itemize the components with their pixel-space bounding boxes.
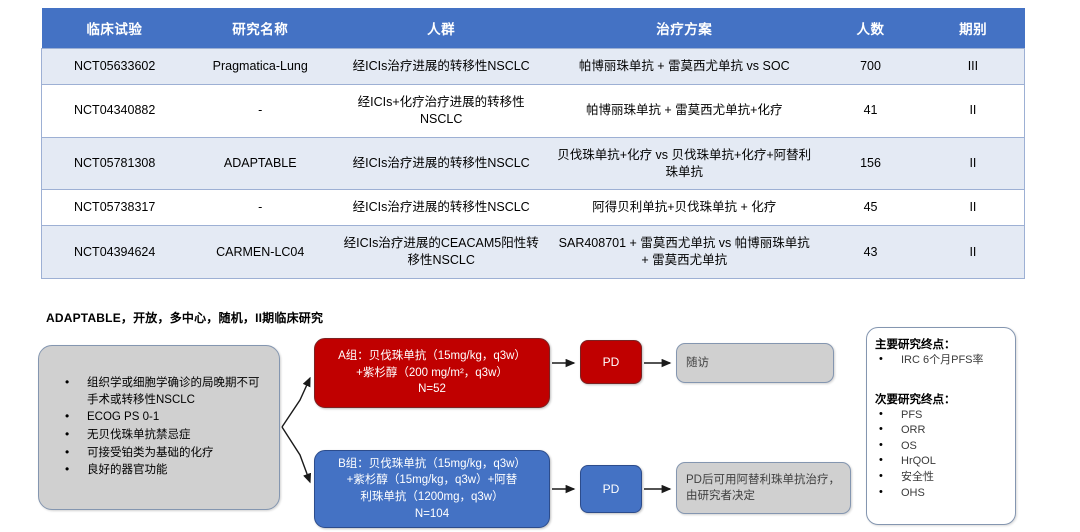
endpoints-spacer [875,369,1009,391]
column-header-trial: 临床试验 [42,8,188,49]
cell-population: 经ICIs治疗进展的转移性NSCLC [333,137,549,190]
list-item: HrQOL [875,454,1009,470]
cell-study-name: - [187,190,333,226]
table-row: NCT04394624 CARMEN-LC04 经ICIs治疗进展的CEACAM… [42,226,1025,279]
table-row: NCT04340882 - 经ICIs+化疗治疗进展的转移性NSCLC 帕博丽珠… [42,84,1025,137]
cell-trial: NCT04340882 [42,84,188,137]
crossover-label: PD后可用阿替利珠单抗治疗，由研究者决定 [677,472,850,504]
column-header-population: 人群 [333,8,549,49]
list-item: ECOG PS 0-1 [65,409,269,426]
list-item: 可接受铂类为基础的化疗 [65,445,269,462]
cell-treatment: 帕博丽珠单抗 + 雷莫西尤单抗 vs SOC [549,49,819,85]
cell-count: 156 [819,137,922,190]
cell-population: 经ICIs治疗进展的转移性NSCLC [333,190,549,226]
cell-study-name: ADAPTABLE [187,137,333,190]
cell-treatment: 贝伐珠单抗+化疗 vs 贝伐珠单抗+化疗+阿替利珠单抗 [549,137,819,190]
column-header-treatment: 治疗方案 [549,8,819,49]
arm-a-sample-size: N=52 [321,381,543,398]
pd-a-label: PD [581,355,641,369]
table-row: NCT05781308 ADAPTABLE 经ICIs治疗进展的转移性NSCLC… [42,137,1025,190]
cell-count: 700 [819,49,922,85]
table-row: NCT05738317 - 经ICIs治疗进展的转移性NSCLC 阿得贝利单抗+… [42,190,1025,226]
arrow-eligibility-to-arm-a [282,378,310,427]
diagram-title: ADAPTABLE，开放，多中心，随机，II期临床研究 [46,309,323,326]
arm-a-line1: A组：贝伐珠单抗（15mg/kg，q3w） [321,348,543,365]
arm-a-box: A组：贝伐珠单抗（15mg/kg，q3w） +紫杉醇（200 mg/m²，q3w… [314,338,550,408]
cell-trial: NCT05738317 [42,190,188,226]
table-body: NCT05633602 Pragmatica-Lung 经ICIs治疗进展的转移… [42,49,1025,279]
cell-phase: II [922,137,1025,190]
cell-count: 41 [819,84,922,137]
cell-phase: II [922,190,1025,226]
study-endpoints-panel: 主要研究终点： IRC 6个月PFS率 次要研究终点： PFS ORR OS H… [866,327,1016,525]
eligibility-criteria-box: 组织学或细胞学确诊的局晚期不可手术或转移性NSCLC ECOG PS 0-1 无… [38,345,280,510]
crossover-treatment-box: PD后可用阿替利珠单抗治疗，由研究者决定 [676,462,851,514]
cell-study-name: - [187,84,333,137]
pd-node-arm-a: PD [580,340,642,384]
cell-phase: III [922,49,1025,85]
list-item: PFS [875,408,1009,424]
cell-study-name: Pragmatica-Lung [187,49,333,85]
arm-b-sample-size: N=104 [321,506,543,523]
list-item: OHS [875,486,1009,502]
followup-label: 随访 [677,355,833,371]
pd-node-arm-b: PD [580,465,642,513]
cell-phase: II [922,84,1025,137]
arrow-eligibility-to-arm-b [282,427,310,482]
arm-b-box: B组：贝伐珠单抗（15mg/kg，q3w） +紫杉醇（15mg/kg，q3w）+… [314,450,550,528]
arm-b-line2: +紫杉醇（15mg/kg，q3w）+阿替 [321,472,543,489]
table-header: 临床试验 研究名称 人群 治疗方案 人数 期别 [42,8,1025,49]
list-item: OS [875,439,1009,455]
primary-endpoint-list: IRC 6个月PFS率 [875,353,1009,369]
secondary-endpoint-heading: 次要研究终点： [875,391,1009,407]
table-header-row: 临床试验 研究名称 人群 治疗方案 人数 期别 [42,8,1025,49]
cell-trial: NCT04394624 [42,226,188,279]
list-item: 良好的器官功能 [65,462,269,479]
primary-endpoint-heading: 主要研究终点： [875,336,1009,352]
eligibility-list: 组织学或细胞学确诊的局晚期不可手术或转移性NSCLC ECOG PS 0-1 无… [39,375,279,479]
list-item: 无贝伐珠单抗禁忌症 [65,427,269,444]
column-header-phase: 期别 [922,8,1025,49]
table-row: NCT05633602 Pragmatica-Lung 经ICIs治疗进展的转移… [42,49,1025,85]
pd-b-label: PD [581,482,641,496]
cell-trial: NCT05633602 [42,49,188,85]
secondary-endpoint-list: PFS ORR OS HrQOL 安全性 OHS [875,408,1009,502]
column-header-count: 人数 [819,8,922,49]
cell-population: 经ICIs治疗进展的转移性NSCLC [333,49,549,85]
cell-treatment: 帕博丽珠单抗 + 雷莫西尤单抗+化疗 [549,84,819,137]
cell-study-name: CARMEN-LC04 [187,226,333,279]
cell-treatment: SAR408701 + 雷莫西尤单抗 vs 帕博丽珠单抗 + 雷莫西尤单抗 [549,226,819,279]
arm-b-line3: 利珠单抗（1200mg，q3w） [321,489,543,506]
cell-population: 经ICIs治疗进展的CEACAM5阳性转移性NSCLC [333,226,549,279]
list-item: 组织学或细胞学确诊的局晚期不可手术或转移性NSCLC [65,375,269,408]
list-item: ORR [875,423,1009,439]
cell-phase: II [922,226,1025,279]
cell-treatment: 阿得贝利单抗+贝伐珠单抗 + 化疗 [549,190,819,226]
arm-a-line2: +紫杉醇（200 mg/m²，q3w） [321,365,543,382]
list-item: 安全性 [875,470,1009,486]
column-header-study-name: 研究名称 [187,8,333,49]
cell-population: 经ICIs+化疗治疗进展的转移性NSCLC [333,84,549,137]
cell-count: 43 [819,226,922,279]
cell-count: 45 [819,190,922,226]
list-item: IRC 6个月PFS率 [875,353,1009,369]
followup-box: 随访 [676,343,834,383]
cell-trial: NCT05781308 [42,137,188,190]
arm-b-line1: B组：贝伐珠单抗（15mg/kg，q3w） [321,456,543,473]
clinical-trials-table: 临床试验 研究名称 人群 治疗方案 人数 期别 NCT05633602 Prag… [41,8,1025,279]
